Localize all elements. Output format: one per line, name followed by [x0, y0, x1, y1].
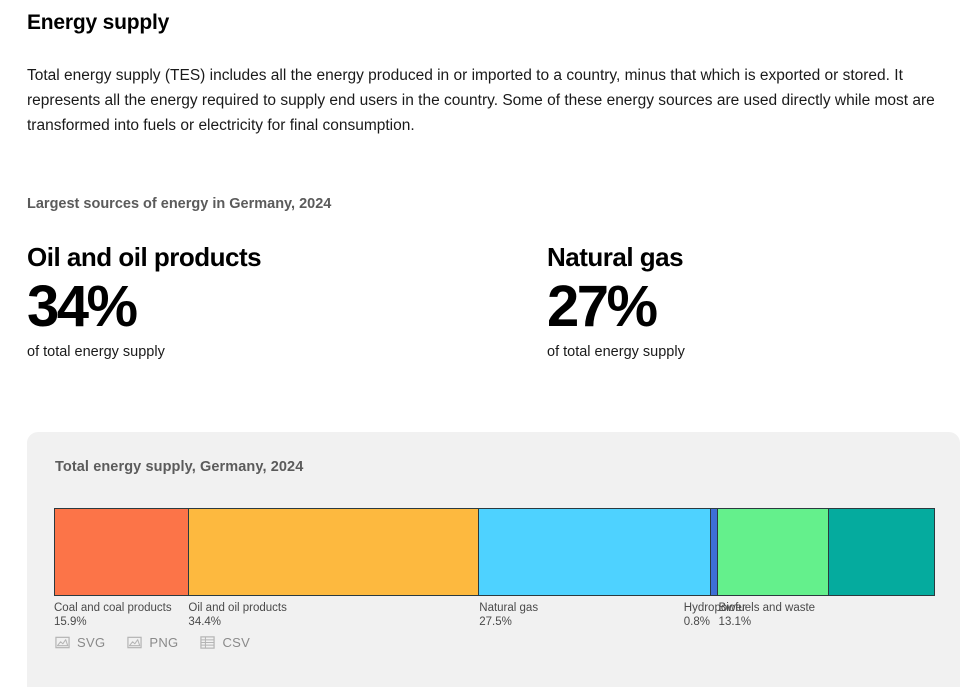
bar-segment-label-name: Biofuels and waste	[719, 602, 816, 616]
bar-segment[interactable]	[478, 508, 711, 596]
bar-segment[interactable]	[717, 508, 829, 596]
bar-segment-label-value: 13.1%	[719, 616, 816, 630]
key-figure-card-natural-gas: Natural gas 27% of total energy supply	[547, 240, 955, 360]
download-button-label: SVG	[77, 635, 105, 650]
download-buttons-row: SVGPNGCSV	[55, 635, 250, 650]
chart-title: Total energy supply, Germany, 2024	[55, 459, 303, 475]
key-figures-grid: Oil and oil products 34% of total energy…	[27, 240, 955, 360]
key-figure-subtitle: of total energy supply	[27, 344, 547, 360]
download-button-label: PNG	[149, 635, 178, 650]
page-title: Energy supply	[27, 11, 169, 35]
chart-image-icon	[127, 635, 142, 650]
stacked-bar-chart[interactable]	[54, 508, 935, 596]
key-figure-label: Oil and oil products	[27, 240, 547, 274]
bar-segment-label-value: 34.4%	[188, 616, 286, 630]
download-svg-button[interactable]: SVG	[55, 635, 105, 650]
bar-segment-label: Coal and coal products15.9%	[54, 602, 172, 629]
bar-segment-label-name: Natural gas	[479, 602, 538, 616]
energy-supply-page: Energy supply Total energy supply (TES) …	[0, 0, 975, 687]
chart-card: Total energy supply, Germany, 2024 Coal …	[27, 432, 960, 687]
bar-segment-label-value: 27.5%	[479, 616, 538, 630]
key-figure-value: 27%	[547, 276, 955, 338]
stacked-bar-legend: Coal and coal products15.9%Oil and oil p…	[54, 602, 954, 636]
bar-segment-label-name: Oil and oil products	[188, 602, 286, 616]
bar-segment-label: Biofuels and waste13.1%	[719, 602, 816, 629]
bar-segment-label: Natural gas27.5%	[479, 602, 538, 629]
bar-segment-label-value: 15.9%	[54, 616, 172, 630]
key-figures-eyebrow: Largest sources of energy in Germany, 20…	[27, 196, 331, 212]
chart-image-icon	[55, 635, 70, 650]
table-grid-icon	[200, 635, 215, 650]
key-figure-card-oil: Oil and oil products 34% of total energy…	[27, 240, 547, 360]
key-figure-value: 34%	[27, 276, 547, 338]
bar-segment[interactable]	[188, 508, 479, 596]
bar-segment[interactable]	[54, 508, 189, 596]
key-figure-label: Natural gas	[547, 240, 955, 274]
bar-segment-label-name: Coal and coal products	[54, 602, 172, 616]
bar-segment-label: Oil and oil products34.4%	[188, 602, 286, 629]
bar-segment[interactable]	[828, 508, 935, 596]
download-csv-button[interactable]: CSV	[200, 635, 250, 650]
intro-paragraph: Total energy supply (TES) includes all t…	[27, 63, 955, 138]
download-png-button[interactable]: PNG	[127, 635, 178, 650]
download-button-label: CSV	[222, 635, 250, 650]
key-figure-subtitle: of total energy supply	[547, 344, 955, 360]
